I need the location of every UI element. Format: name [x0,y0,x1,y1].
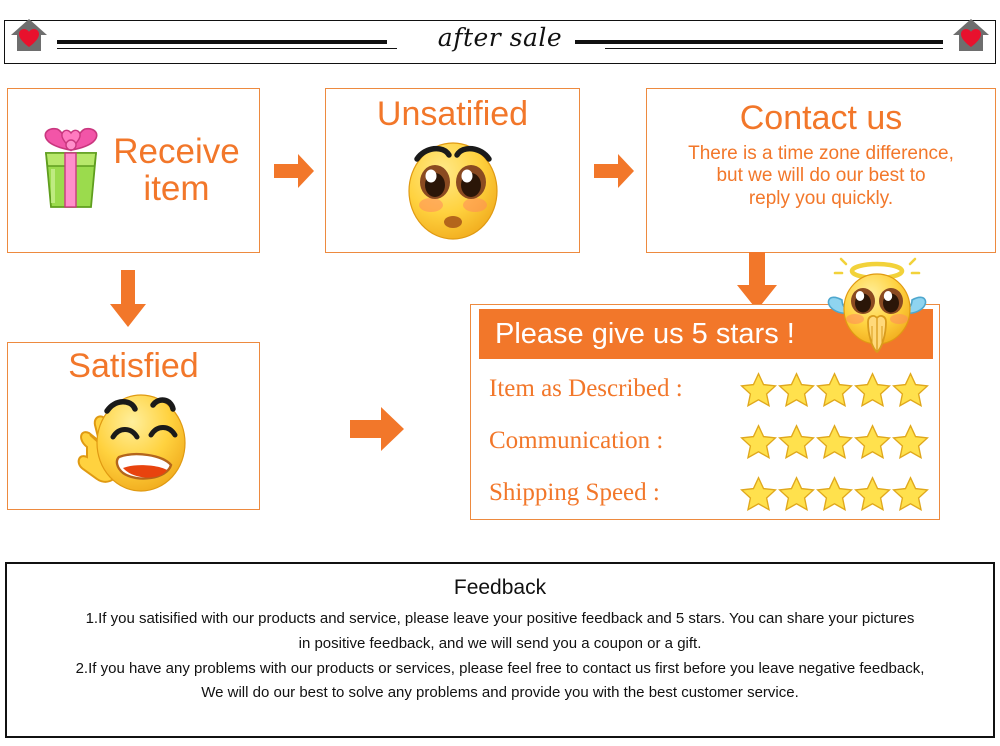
feedback-line-1: 1.If you satisified with our products an… [7,610,993,629]
star-icon[interactable] [740,371,777,407]
star-icon[interactable] [854,371,891,407]
step-unsatisfied-label: Unsatified [326,97,579,133]
step-receive-item: Receive item [7,88,260,253]
star-icon[interactable] [854,475,891,511]
step-unsatisfied: Unsatified [325,88,580,253]
step-contact-us: Contact us There is a time zone differen… [646,88,996,253]
header-banner: after sale [4,20,996,64]
banner-rule-right-thin [605,48,943,49]
feedback-line-4: We will do our best to solve any problem… [7,684,993,703]
feedback-line-3: 2.If you have any problems with our prod… [7,660,993,679]
gift-box-icon [33,123,109,218]
rating-label-shipping-speed: Shipping Speed : [489,479,740,507]
rating-row: Communication : [489,415,929,467]
home-heart-icon [949,13,993,57]
feedback-title: Feedback [7,576,993,600]
star-icon[interactable] [892,423,929,459]
star-icon[interactable] [892,371,929,407]
star-icon[interactable] [816,475,853,511]
star-rating-shipping-speed[interactable] [740,475,929,511]
star-icon[interactable] [778,371,815,407]
rating-row: Item as Described : [489,363,929,415]
star-icon[interactable] [778,475,815,511]
feedback-line-2: in positive feedback, and we will send y… [7,635,993,654]
arrow-unsatisfied-to-contact [592,152,636,195]
star-rating-item-as-described[interactable] [740,371,929,407]
contact-us-body: There is a time zone difference, but we … [647,143,995,210]
page-title: after sale [434,23,566,52]
step-contact-us-label: Contact us [647,101,995,137]
sad-face-emoji [326,131,579,243]
step-satisfied-label: Satisfied [8,349,259,385]
rating-row: Shipping Speed : [489,467,929,519]
step-receive-item-label: Receive item [113,134,239,208]
contact-body-line-1: There is a time zone difference, [647,143,995,165]
arrow-satisfied-to-rating [348,405,406,458]
star-icon[interactable] [816,371,853,407]
star-icon[interactable] [854,423,891,459]
banner-rule-left-thin [57,48,397,49]
arrow-receive-to-satisfied [108,268,148,335]
step-satisfied: Satisfied [7,342,260,510]
banner-rule-right-thick [575,40,943,44]
rating-label-item-as-described: Item as Described : [489,375,740,403]
praying-angel-emoji [822,256,928,362]
contact-body-line-3: reply you quickly. [647,188,995,210]
after-sale-infographic: after sale [0,0,1000,746]
star-icon[interactable] [740,423,777,459]
star-icon[interactable] [816,423,853,459]
star-icon[interactable] [778,423,815,459]
arrow-receive-to-unsatisfied [272,152,316,195]
feedback-panel: Feedback 1.If you satisified with our pr… [5,562,995,738]
home-heart-icon [7,13,51,57]
banner-rule-left-thick [57,40,387,44]
star-icon[interactable] [892,475,929,511]
happy-peace-face-emoji [8,385,259,497]
star-rating-communication[interactable] [740,423,929,459]
contact-body-line-2: but we will do our best to [647,165,995,187]
star-icon[interactable] [740,475,777,511]
rating-label-communication: Communication : [489,427,740,455]
